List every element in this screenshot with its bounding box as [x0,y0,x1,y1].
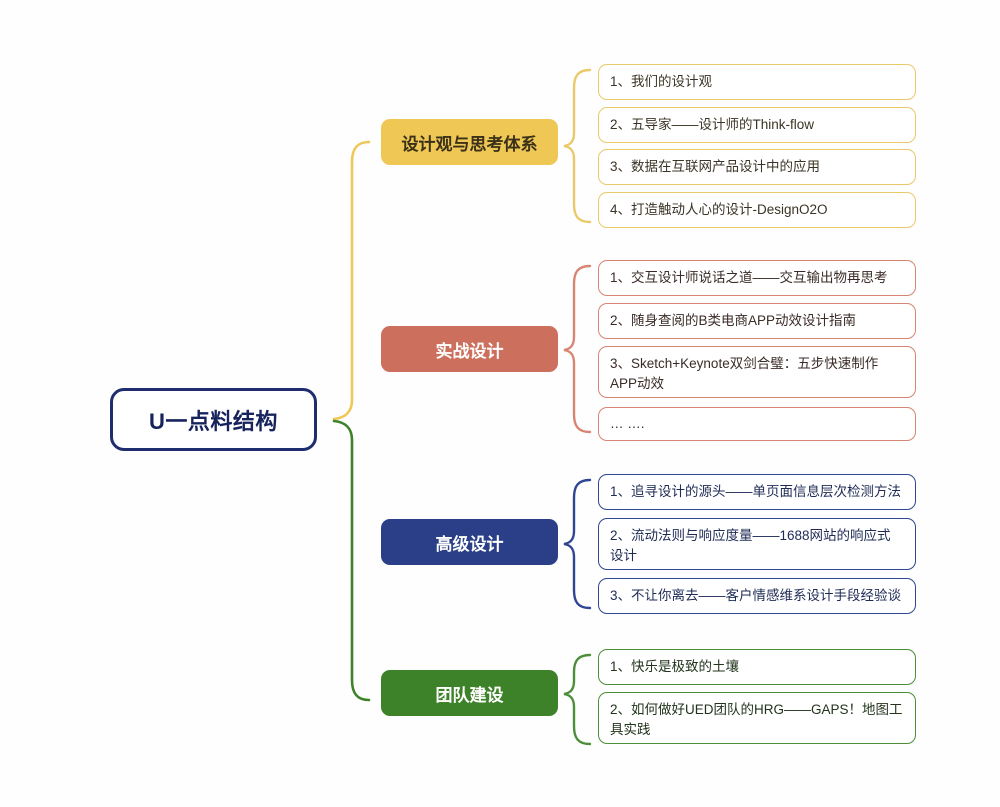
branch-label-advanced-design: 高级设计 [436,530,504,555]
brace-advanced-design [564,480,590,608]
root-node[interactable]: U一点料结构 [110,388,317,451]
branch-label-design-view: 设计观与思考体系 [402,130,538,155]
leaf-label: 4、打造触动人心的设计-DesignO2O [610,200,828,220]
leaf-node[interactable]: 2、如何做好UED团队的HRG——GAPS！地图工具实践 [598,692,916,744]
branch-label-team-building: 团队建设 [436,681,504,706]
leaf-label: 2、流动法则与响应度量——1688网站的响应式设计 [610,526,903,565]
leaf-node[interactable]: 2、流动法则与响应度量——1688网站的响应式设计 [598,518,916,570]
root-node-label: U一点料结构 [149,404,278,436]
leaf-node[interactable]: 3、Sketch+Keynote双剑合璧：五步快速制作APP动效 [598,346,916,398]
leaf-node[interactable]: 1、我们的设计观 [598,64,916,100]
leaf-node[interactable]: 2、五导家——设计师的Think-flow [598,107,916,143]
leaf-label: 1、我们的设计观 [610,72,712,92]
leaf-node[interactable]: … …. [598,407,916,441]
leaf-label: 3、Sketch+Keynote双剑合璧：五步快速制作APP动效 [610,354,903,393]
brace-team-building [564,655,590,744]
leaf-node[interactable]: 1、追寻设计的源头——单页面信息层次检测方法 [598,474,916,510]
leaf-label: 1、追寻设计的源头——单页面信息层次检测方法 [610,482,901,502]
leaf-node[interactable]: 1、交互设计师说话之道——交互输出物再思考 [598,260,916,296]
mindmap-canvas: U一点料结构 设计观与思考体系 1、我们的设计观 2、五导家——设计师的Thin… [0,0,1000,807]
leaf-node[interactable]: 3、数据在互联网产品设计中的应用 [598,149,916,185]
leaf-label: 3、不让你离去——客户情感维系设计手段经验谈 [610,586,901,606]
root-brace-upper [334,142,369,419]
leaf-label: 3、数据在互联网产品设计中的应用 [610,157,820,177]
leaf-label: 1、交互设计师说话之道——交互输出物再思考 [610,268,888,288]
leaf-label: … …. [610,414,645,434]
brace-practical-design [564,266,590,432]
branch-node-advanced-design[interactable]: 高级设计 [381,519,558,565]
leaf-label: 2、如何做好UED团队的HRG——GAPS！地图工具实践 [610,700,903,739]
leaf-node[interactable]: 3、不让你离去——客户情感维系设计手段经验谈 [598,578,916,614]
leaf-label: 2、五导家——设计师的Think-flow [610,115,814,135]
leaf-node[interactable]: 2、随身查阅的B类电商APP动效设计指南 [598,303,916,339]
root-brace-lower [334,421,369,700]
brace-design-view [564,70,590,222]
branch-node-team-building[interactable]: 团队建设 [381,670,558,716]
branch-node-practical-design[interactable]: 实战设计 [381,326,558,372]
branch-label-practical-design: 实战设计 [436,337,504,362]
leaf-label: 2、随身查阅的B类电商APP动效设计指南 [610,311,856,331]
leaf-node[interactable]: 4、打造触动人心的设计-DesignO2O [598,192,916,228]
leaf-label: 1、快乐是极致的土壤 [610,657,739,677]
branch-node-design-view[interactable]: 设计观与思考体系 [381,119,558,165]
leaf-node[interactable]: 1、快乐是极致的土壤 [598,649,916,685]
